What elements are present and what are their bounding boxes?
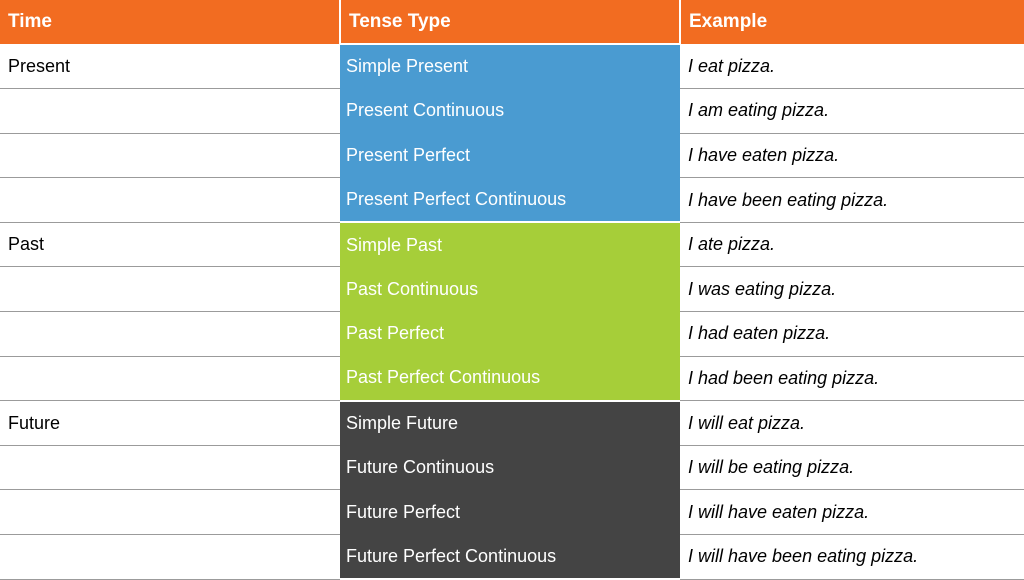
cell-time bbox=[0, 445, 340, 490]
cell-tense-type: Simple Present bbox=[340, 44, 680, 89]
cell-tense-type: Future Perfect Continuous bbox=[340, 535, 680, 580]
cell-example: I will have been eating pizza. bbox=[680, 535, 1024, 580]
cell-tense-type: Present Continuous bbox=[340, 89, 680, 134]
cell-example: I will have eaten pizza. bbox=[680, 490, 1024, 535]
cell-tense-type: Past Perfect bbox=[340, 312, 680, 357]
cell-example: I had eaten pizza. bbox=[680, 312, 1024, 357]
table-header: Time Tense Type Example bbox=[0, 0, 1024, 44]
cell-tense-type: Past Perfect Continuous bbox=[340, 356, 680, 401]
cell-example: I had been eating pizza. bbox=[680, 356, 1024, 401]
tense-reference-table: Time Tense Type Example PresentSimple Pr… bbox=[0, 0, 1024, 580]
cell-time bbox=[0, 490, 340, 535]
column-header-example: Example bbox=[680, 0, 1024, 44]
cell-tense-type: Present Perfect bbox=[340, 133, 680, 178]
cell-tense-type: Simple Future bbox=[340, 401, 680, 446]
table-row: Future PerfectI will have eaten pizza. bbox=[0, 490, 1024, 535]
cell-time: Present bbox=[0, 44, 340, 89]
table-row: Past ContinuousI was eating pizza. bbox=[0, 267, 1024, 312]
cell-time bbox=[0, 267, 340, 312]
cell-example: I have been eating pizza. bbox=[680, 178, 1024, 223]
cell-example: I ate pizza. bbox=[680, 222, 1024, 267]
table-row: Past PerfectI had eaten pizza. bbox=[0, 312, 1024, 357]
column-header-tense: Tense Type bbox=[340, 0, 680, 44]
cell-tense-type: Future Continuous bbox=[340, 445, 680, 490]
cell-tense-type: Simple Past bbox=[340, 222, 680, 267]
table-row: Future ContinuousI will be eating pizza. bbox=[0, 445, 1024, 490]
cell-example: I have eaten pizza. bbox=[680, 133, 1024, 178]
cell-time bbox=[0, 312, 340, 357]
table-body: PresentSimple PresentI eat pizza.Present… bbox=[0, 44, 1024, 579]
table-row: Present Perfect ContinuousI have been ea… bbox=[0, 178, 1024, 223]
cell-time bbox=[0, 535, 340, 580]
table-row: FutureSimple FutureI will eat pizza. bbox=[0, 401, 1024, 446]
table-row: Present ContinuousI am eating pizza. bbox=[0, 89, 1024, 134]
column-header-time: Time bbox=[0, 0, 340, 44]
table-row: PresentSimple PresentI eat pizza. bbox=[0, 44, 1024, 89]
cell-example: I was eating pizza. bbox=[680, 267, 1024, 312]
cell-time: Future bbox=[0, 401, 340, 446]
table-row: Past Perfect ContinuousI had been eating… bbox=[0, 356, 1024, 401]
cell-example: I will be eating pizza. bbox=[680, 445, 1024, 490]
cell-time bbox=[0, 356, 340, 401]
cell-time bbox=[0, 178, 340, 223]
table-row: PastSimple PastI ate pizza. bbox=[0, 222, 1024, 267]
cell-example: I eat pizza. bbox=[680, 44, 1024, 89]
cell-time: Past bbox=[0, 222, 340, 267]
cell-time bbox=[0, 133, 340, 178]
cell-tense-type: Present Perfect Continuous bbox=[340, 178, 680, 223]
header-row: Time Tense Type Example bbox=[0, 0, 1024, 44]
cell-time bbox=[0, 89, 340, 134]
table-row: Future Perfect ContinuousI will have bee… bbox=[0, 535, 1024, 580]
cell-example: I will eat pizza. bbox=[680, 401, 1024, 446]
cell-tense-type: Future Perfect bbox=[340, 490, 680, 535]
cell-example: I am eating pizza. bbox=[680, 89, 1024, 134]
table-row: Present PerfectI have eaten pizza. bbox=[0, 133, 1024, 178]
cell-tense-type: Past Continuous bbox=[340, 267, 680, 312]
